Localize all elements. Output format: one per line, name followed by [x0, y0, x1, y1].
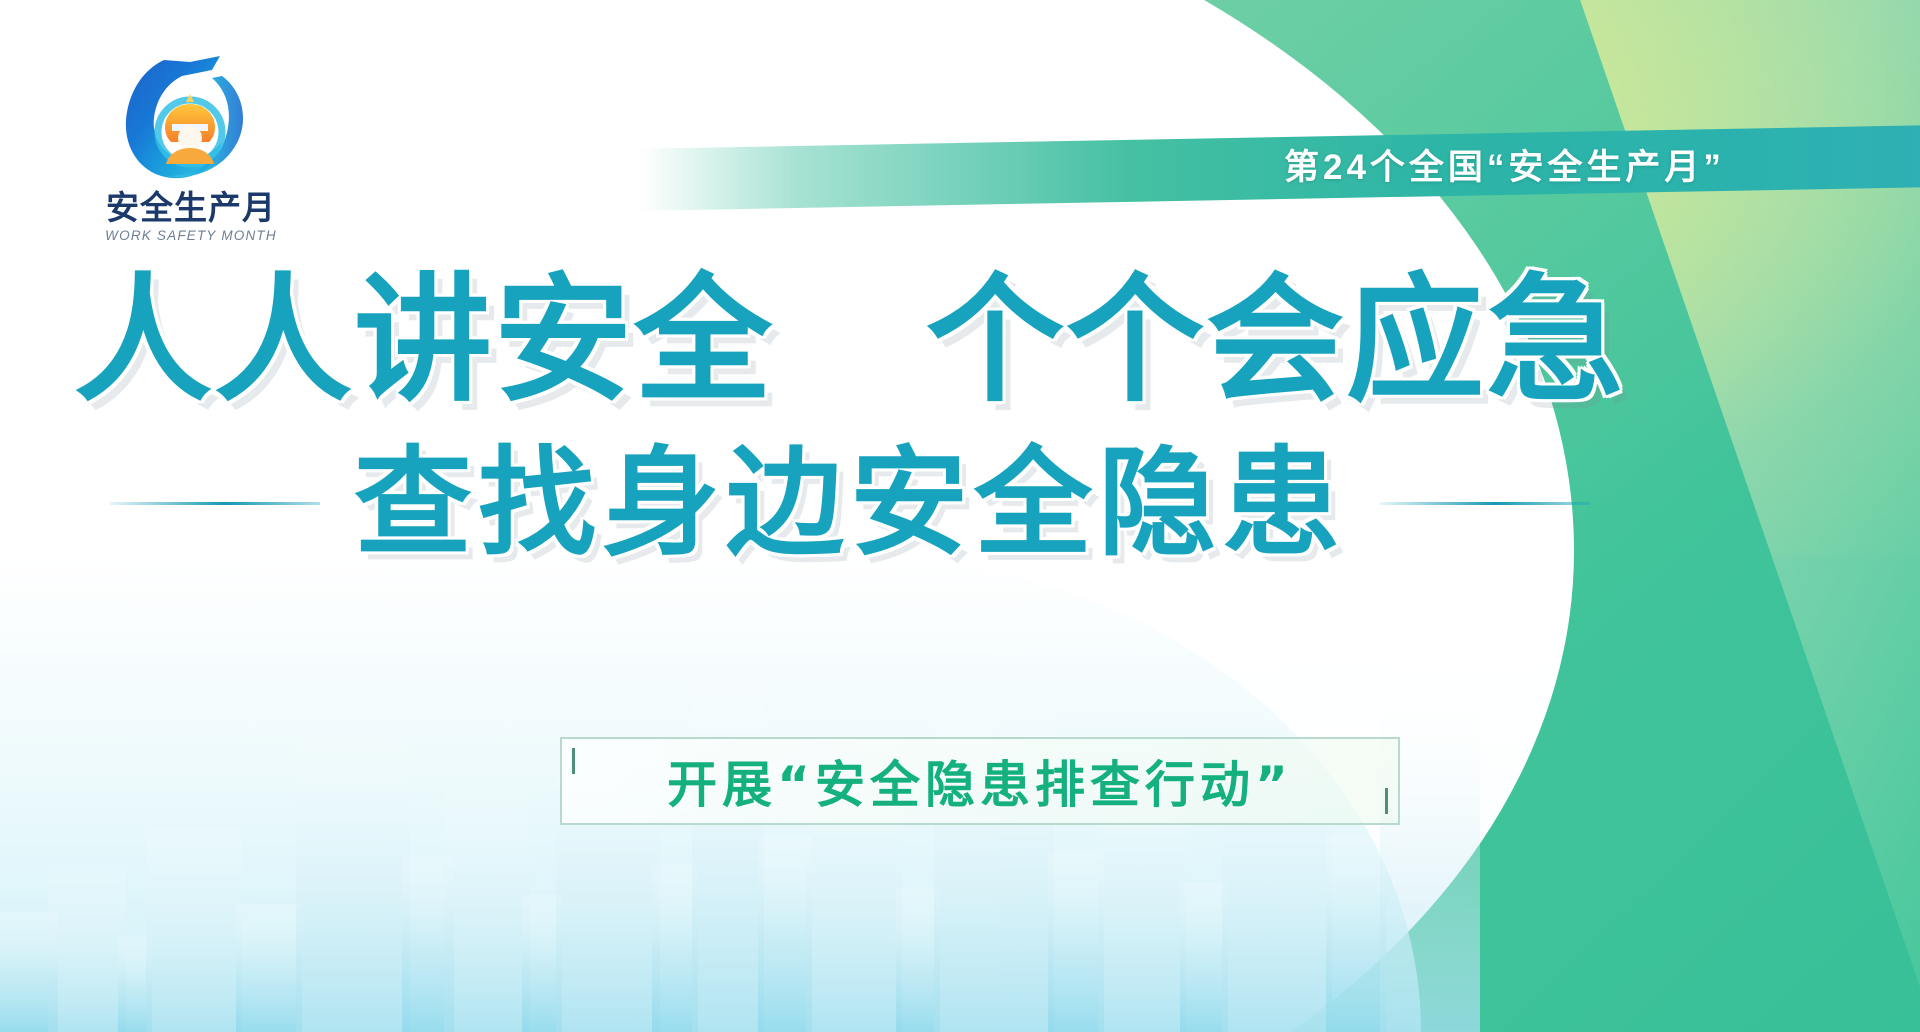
- skyline-building: [692, 680, 764, 1032]
- rule-right: [1380, 502, 1590, 505]
- banner-title-text: 第24个全国“安全生产月”: [1284, 138, 1725, 189]
- subtitle-box: 开展“安全隐患排查行动”: [560, 737, 1400, 825]
- headline-line-1: 人人讲安全 个个会应急: [0, 272, 1700, 410]
- skyline-building: [896, 888, 940, 1032]
- skyline-building: [652, 864, 698, 1032]
- headline-line-1-part-2: 个个会应急: [926, 260, 1626, 421]
- skyline-building: [48, 870, 126, 1032]
- logo-chinese-name: 安全生产月: [76, 190, 306, 226]
- subtitle-text: 开展“安全隐患排查行动”: [667, 745, 1293, 817]
- headline-line-2-row: 查找身边安全隐患: [0, 444, 1700, 562]
- poster-root: 第24个全国“安全生产月”: [0, 0, 1920, 1032]
- headline-line-1-part-1: 人人讲安全: [74, 260, 774, 421]
- headline-block: 人人讲安全 个个会应急 查找身边安全隐患: [0, 272, 1700, 562]
- skyline-building: [1048, 850, 1104, 1032]
- skyline-building: [296, 732, 410, 1032]
- skyline-building: [1326, 834, 1386, 1032]
- skyline-building: [1180, 882, 1228, 1032]
- logo-english-name: WORK SAFETY MONTH: [76, 228, 306, 243]
- logo-6-mark: [94, 48, 270, 188]
- skyline-building: [444, 788, 530, 1032]
- skyline-building: [146, 826, 242, 1032]
- skyline-building: [758, 836, 812, 1032]
- headline-line-2: 查找身边安全隐患: [354, 444, 1346, 562]
- skyline-building: [236, 904, 302, 1032]
- work-safety-month-logo: 安全生产月 WORK SAFETY MONTH: [76, 48, 306, 248]
- rule-left: [110, 502, 320, 505]
